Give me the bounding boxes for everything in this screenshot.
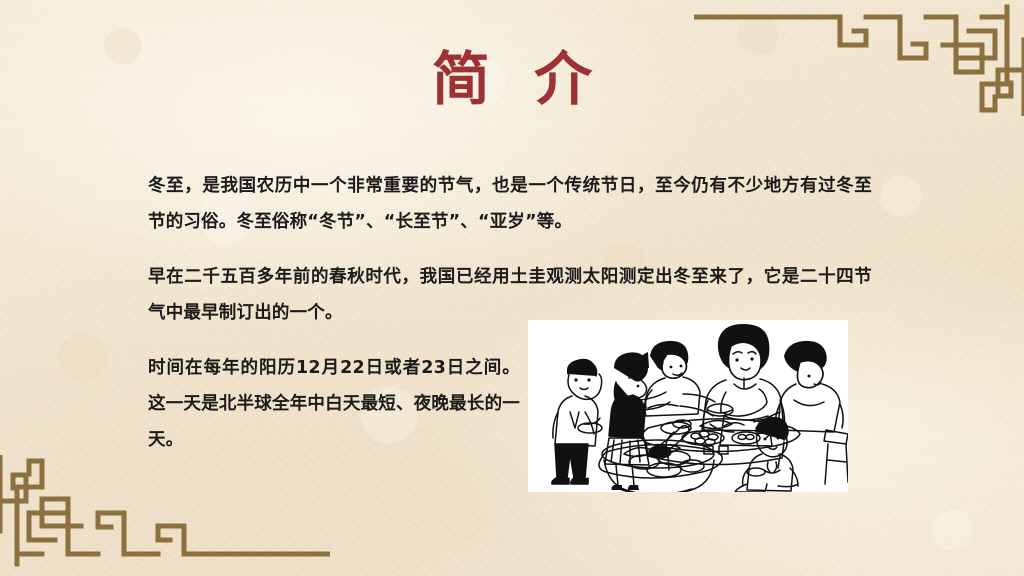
paragraph-3: 时间在每年的阳历12月22日或者23日之间。这一天是北半球全年中白天最短、夜晚最… [148,350,520,459]
paragraph-2: 早在二千五百多年前的春秋时代，我国已经用土圭观测太阳测定出冬至来了，它是二十四节… [148,259,872,332]
page-title: 简 介 [0,48,1024,112]
body-text-block: 冬至，是我国农历中一个非常重要的节气，也是一个传统节日，至今仍有不少地方有过冬至… [148,168,872,459]
paragraph-1: 冬至，是我国农历中一个非常重要的节气，也是一个传统节日，至今仍有不少地方有过冬至… [148,168,872,241]
slide-canvas: 简 介 [0,0,1024,576]
